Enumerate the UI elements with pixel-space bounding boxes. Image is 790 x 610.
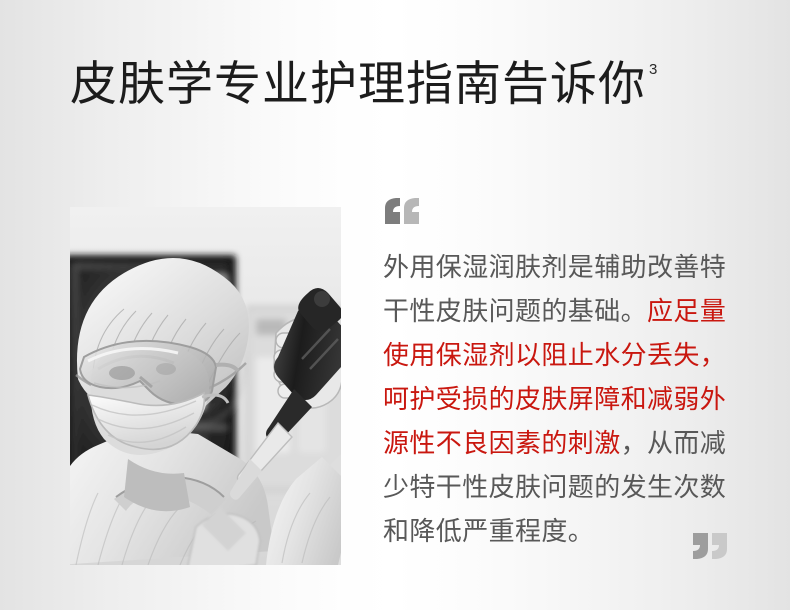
page-title-footnote-superscript: 3 [649,62,657,77]
quote-close-glyph [691,529,731,561]
testimonial-quote-block: 外用保湿润肤剂是辅助改善特干性皮肤问题的基础。应足量使用保湿剂以阻止水分丢失，呵… [383,196,735,561]
lab-scientist-photo [70,207,341,565]
lab-scientist-photo-graphic [70,207,341,565]
page-title-text: 皮肤学专业护理指南告诉你 [70,55,646,113]
promo-banner: 皮肤学专业护理指南告诉你 3 [0,0,790,610]
page-title: 皮肤学专业护理指南告诉你 3 [70,55,770,117]
quote-open-glyph [383,196,423,228]
quote-paragraph: 外用保湿润肤剂是辅助改善特干性皮肤问题的基础。应足量使用保湿剂以阻止水分丢失，呵… [383,245,735,553]
quote-open-icon [383,196,423,228]
quote-close-icon [691,529,731,561]
